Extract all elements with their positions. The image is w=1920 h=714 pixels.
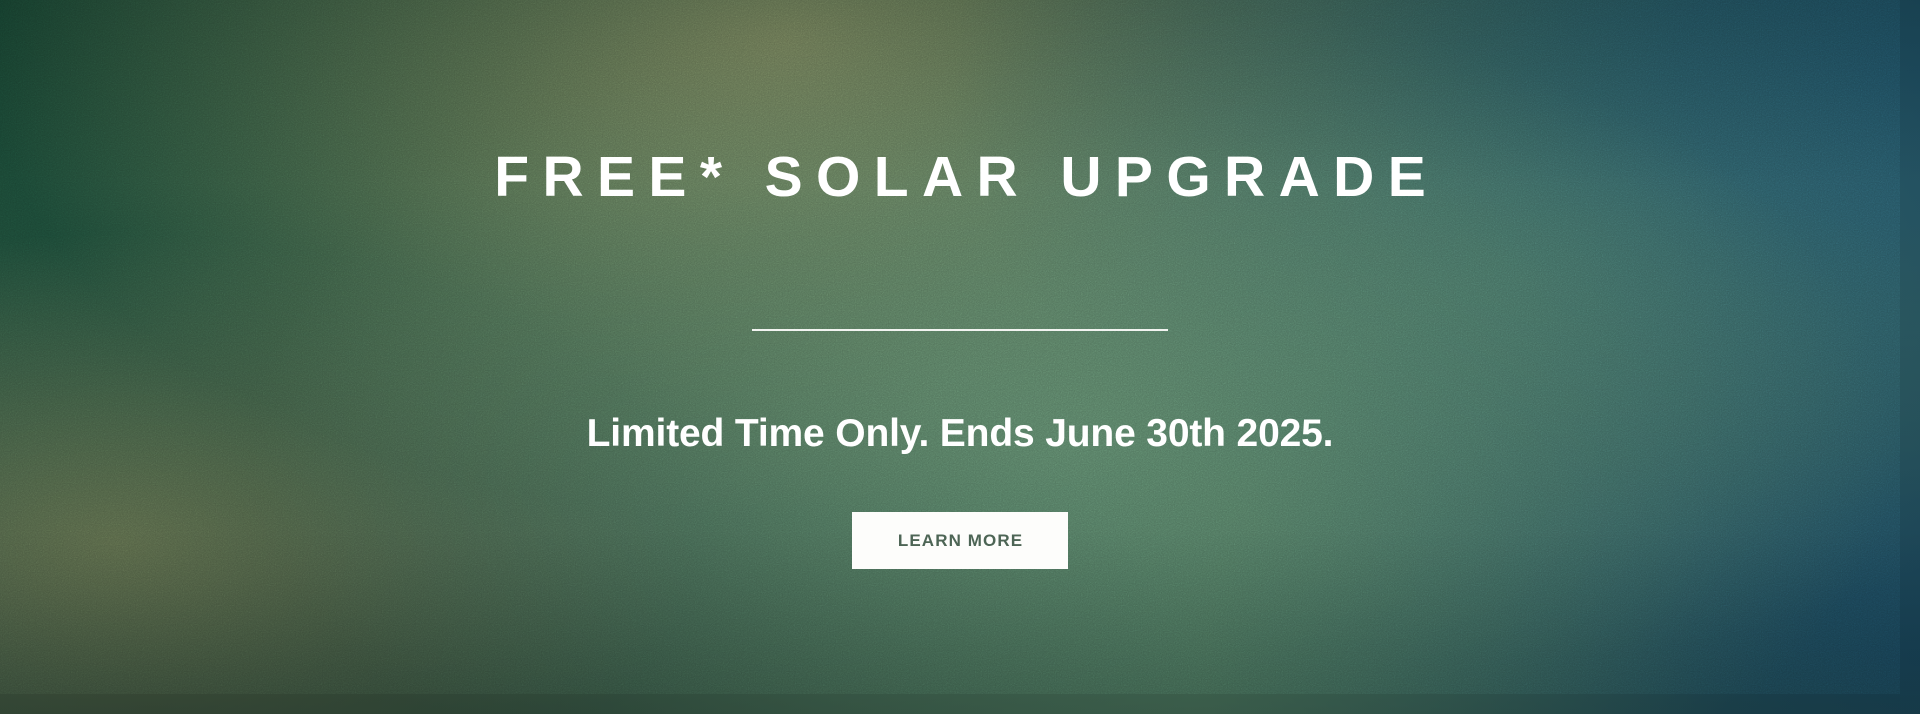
banner-subheadline: Limited Time Only. Ends June 30th 2025. xyxy=(0,316,1920,456)
promotional-banner: FREE* SOLAR UPGRADE Limited Time Only. E… xyxy=(0,0,1920,714)
banner-content: FREE* SOLAR UPGRADE Limited Time Only. E… xyxy=(0,0,1920,714)
banner-headline: FREE* SOLAR UPGRADE xyxy=(0,148,1920,208)
learn-more-button[interactable]: LEARN MORE xyxy=(852,512,1068,569)
cta-container: LEARN MORE xyxy=(0,512,1920,569)
